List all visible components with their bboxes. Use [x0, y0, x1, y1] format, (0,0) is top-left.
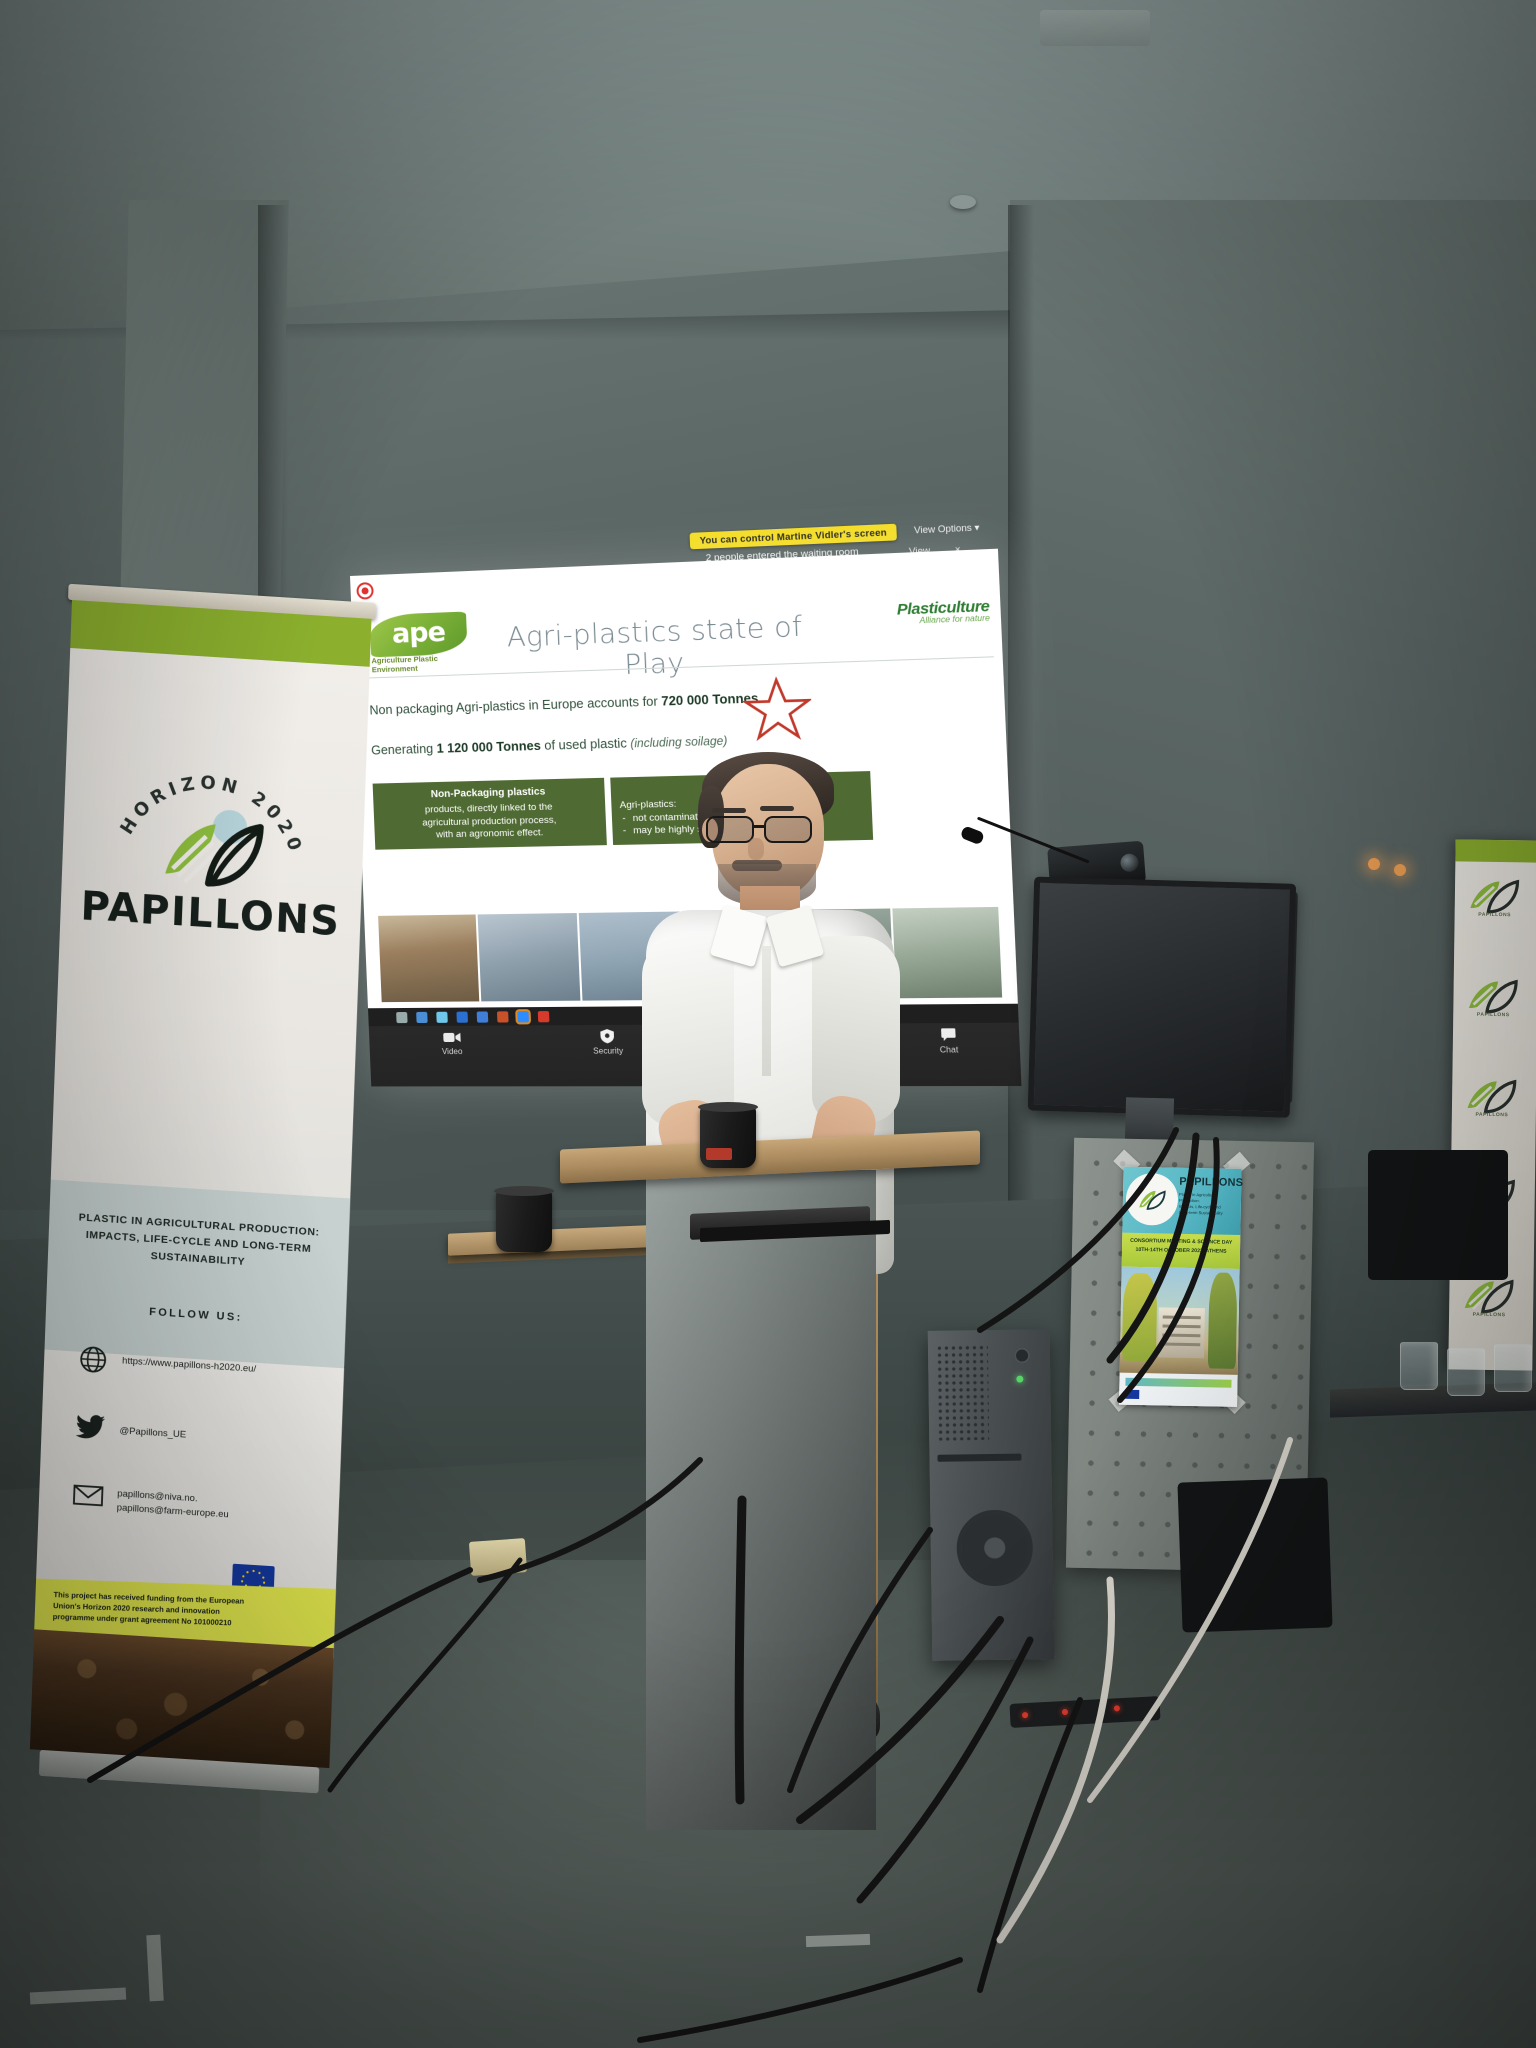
video-camera-icon	[443, 1030, 461, 1044]
taskbar-icon-edge[interactable]	[477, 1011, 489, 1022]
floor-cable-cover	[469, 1538, 527, 1576]
zoom-control-video[interactable]: Video	[441, 1030, 463, 1056]
poster-subtitle-line3: Long-term Sustainability	[1179, 1210, 1237, 1217]
poster-building	[1158, 1307, 1205, 1358]
poster-footer-bar	[1125, 1378, 1231, 1388]
camera-lens-icon	[1120, 853, 1139, 872]
taskbar-icon-zoom[interactable]	[517, 1011, 529, 1022]
coffee-cup-right	[700, 1106, 756, 1168]
speaker-sleeve-right	[812, 936, 900, 1122]
monitor-screen	[1028, 877, 1296, 1118]
red-star-icon	[742, 675, 813, 743]
speaker-sleeve-left	[642, 936, 734, 1126]
poster-subtitle: Plastic in Agricultural Production: Impa…	[1179, 1192, 1237, 1218]
indicator-lamp-2	[1394, 864, 1406, 876]
tower-power-led	[1016, 1376, 1023, 1383]
lectern	[560, 1140, 980, 1840]
soil-texture	[30, 1629, 334, 1768]
bullet-2-italic: (including soilage)	[630, 735, 728, 750]
shield-icon	[598, 1029, 616, 1043]
twitter-icon	[75, 1414, 106, 1446]
speaker-brow-left	[712, 808, 746, 813]
speaker-brow-right	[760, 806, 794, 811]
cup-logo-band	[706, 1148, 732, 1160]
speaker-nose	[748, 838, 764, 860]
bullet-1-pre: Non packaging Agri-plastics in Europe ac…	[369, 694, 661, 717]
banner-email-addresses: papillons@niva.no. papillons@farm-europe…	[116, 1488, 229, 1523]
box-left-line2: agricultural production process,	[422, 814, 557, 828]
bullet-2-pre: Generating	[371, 742, 437, 758]
banner-soil-photo	[30, 1629, 334, 1768]
slide-bullet-1: Non packaging Agri-plastics in Europe ac…	[369, 691, 758, 717]
confidence-monitor	[1026, 877, 1284, 1184]
power-strip-led-1	[1022, 1712, 1028, 1718]
power-strip-led-2	[1062, 1709, 1068, 1715]
box-left-line1: products, directly linked to the	[425, 802, 553, 816]
recording-dot-icon	[358, 584, 371, 598]
banner-website-url: https://www.papillons-h2020.eu/	[122, 1355, 256, 1377]
papillons-leaf-icon	[1467, 874, 1522, 915]
zoom-control-security[interactable]: Security	[592, 1029, 623, 1056]
secondary-banner-label-3: PAPILLONS	[1464, 1112, 1520, 1119]
poster-eu-flag-icon	[1125, 1390, 1139, 1399]
bullet-2-post: of used plastic	[541, 736, 631, 753]
water-glass-1	[1400, 1342, 1438, 1390]
secondary-banner-tile-3: PAPILLONS	[1464, 1074, 1525, 1131]
glasses-lens-right	[764, 816, 812, 843]
secondary-banner-tile-2: PAPILLONS	[1465, 974, 1526, 1031]
bullet-2-value: 1 120 000 Tonnes	[436, 739, 541, 756]
zoom-control-security-label: Security	[593, 1046, 623, 1055]
ape-caption: Agriculture Plastic Environment	[371, 653, 490, 674]
indicator-lamp-1	[1368, 858, 1380, 870]
slide-photo-1	[378, 914, 479, 1002]
slide-photo-2	[478, 913, 581, 1001]
slide-box-non-packaging: Non-Packaging plastics products, directl…	[373, 778, 607, 850]
zoom-control-video-label: Video	[442, 1047, 463, 1056]
papillons-leaf-icon	[1138, 1185, 1167, 1214]
box-left-title: Non-Packaging plastics	[381, 784, 597, 803]
ceiling-vent	[1040, 10, 1150, 46]
poster-tree-left	[1122, 1273, 1158, 1362]
power-strip-led-3	[1114, 1705, 1120, 1711]
water-glass-2	[1447, 1348, 1485, 1396]
papillons-leaf-icon	[1464, 1074, 1519, 1115]
poster-event-band: CONSORTIUM MEETING & SCIENCE DAY 10TH-14…	[1122, 1233, 1241, 1269]
box-left-line3: with an agronomic effect.	[436, 827, 544, 840]
smoke-detector	[950, 195, 976, 209]
poster-event-text: CONSORTIUM MEETING & SCIENCE DAY 10TH-14…	[1126, 1237, 1236, 1258]
poster-header: PAPILLONS Plastic in Agricultural Produc…	[1122, 1167, 1241, 1239]
secondary-banner-label-1: PAPILLONS	[1467, 912, 1523, 919]
poster-tree-right	[1208, 1272, 1238, 1369]
globe-icon	[78, 1344, 109, 1376]
secondary-banner-header	[1455, 839, 1536, 862]
plasticulture-logo: Plasticulture Alliance for nature	[897, 597, 991, 626]
taskbar-icon-explorer[interactable]	[416, 1011, 428, 1022]
chair-back-right	[1177, 1477, 1332, 1632]
tower-power-button[interactable]	[1014, 1347, 1030, 1363]
pc-tower	[928, 1329, 1055, 1661]
taskbar-icon-outlook[interactable]	[456, 1011, 468, 1022]
zoom-control-chat[interactable]: Chat	[939, 1027, 959, 1054]
banner-twitter-handle: @Papillons_UE	[119, 1424, 186, 1442]
photo-scene: You can control Martine Vidler's screen …	[0, 0, 1536, 2048]
coffee-cup-left	[496, 1190, 552, 1252]
tower-fan-icon	[956, 1509, 1033, 1586]
slide-title: Agri-plastics state of Play	[483, 610, 830, 686]
secondary-banner-tile-5: PAPILLONS	[1461, 1274, 1522, 1331]
papillons-rollup-banner: HORIZON 2020 PAPILLONS PLASTIC IN AGRICU…	[32, 600, 371, 1708]
taskbar-icon-powerpoint[interactable]	[497, 1011, 509, 1022]
poster-logo-circle	[1125, 1173, 1178, 1226]
zoom-control-chat-label: Chat	[940, 1045, 959, 1055]
poster-title: PAPILLONS	[1179, 1176, 1239, 1189]
poster-subtitle-line1: Plastic in Agricultural Production:	[1179, 1192, 1237, 1205]
poster-event-line2: 10TH-14TH OCTOBER 2022, ATHENS	[1126, 1246, 1236, 1257]
papillons-event-poster: PAPILLONS Plastic in Agricultural Produc…	[1119, 1167, 1242, 1407]
floor-marking-3	[806, 1934, 870, 1947]
ape-wordmark: ape	[378, 616, 460, 651]
papillons-leaf-logo-icon	[157, 802, 268, 901]
tower-mesh-grille	[936, 1344, 989, 1441]
envelope-icon	[73, 1484, 104, 1516]
speaker-glasses	[706, 816, 828, 840]
taskbar-icon-acrobat[interactable]	[538, 1011, 550, 1022]
glasses-lens-left	[706, 816, 754, 843]
chat-bubble-icon	[939, 1027, 958, 1042]
water-glass-3	[1494, 1344, 1532, 1392]
secondary-papillons-banner: PAPILLONS PAPILLONS PAPILLONS	[1448, 839, 1536, 1370]
speaker-shirt-placket	[762, 946, 771, 1076]
poster-venue-photo	[1120, 1267, 1240, 1377]
papillons-leaf-icon	[1465, 974, 1520, 1015]
taskbar-icon-start[interactable]	[396, 1011, 407, 1022]
chair-back-left	[1368, 1150, 1508, 1280]
tower-drive-slot	[937, 1454, 1021, 1462]
taskbar-icon-teams[interactable]	[436, 1011, 448, 1022]
lectern-column-shading	[646, 1170, 876, 1830]
poster-footer	[1119, 1373, 1238, 1407]
secondary-banner-label-2: PAPILLONS	[1465, 1012, 1521, 1019]
secondary-banner-tile-1: PAPILLONS	[1466, 874, 1527, 931]
slide-bullet-2: Generating 1 120 000 Tonnes of used plas…	[371, 733, 728, 757]
secondary-banner-label-5: PAPILLONS	[1461, 1312, 1517, 1319]
